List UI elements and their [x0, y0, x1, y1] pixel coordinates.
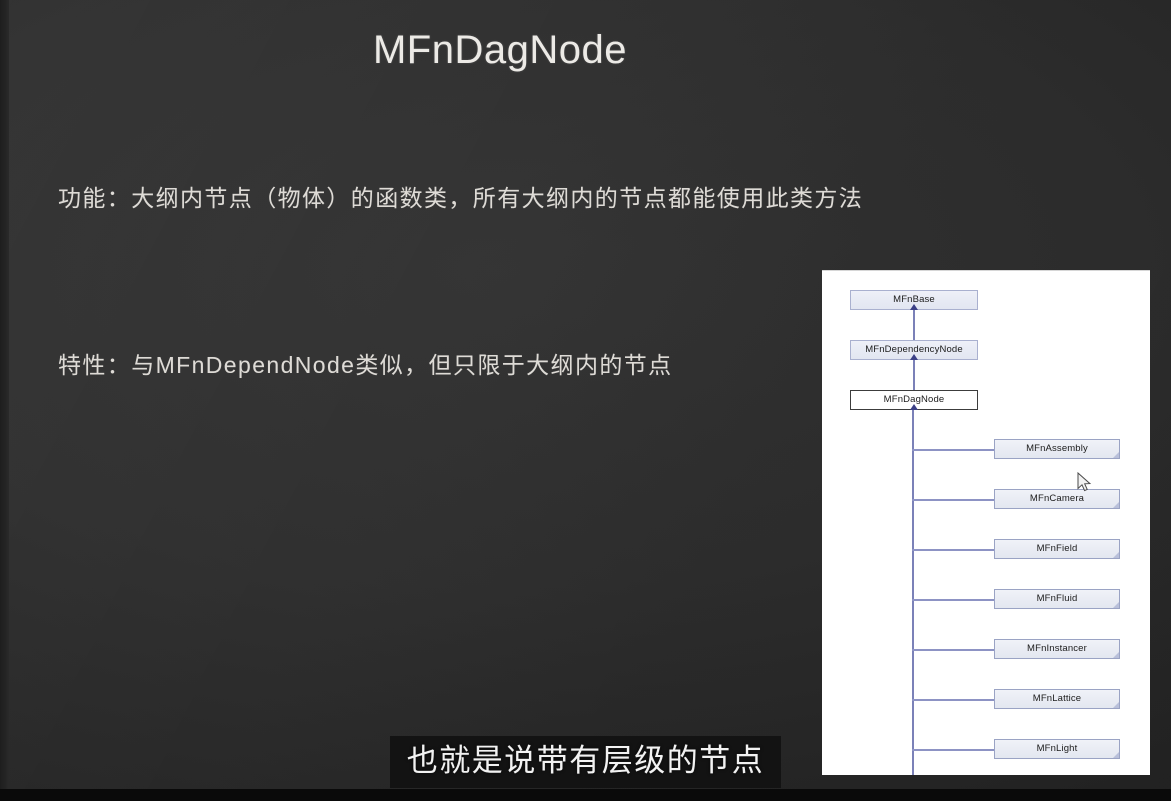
node-label: MFnLight	[1037, 743, 1078, 754]
connector-branch-lattice	[912, 699, 998, 701]
node-box-mfnlattice[interactable]: MFnLattice	[994, 689, 1120, 709]
node-label: MFnFluid	[1037, 593, 1078, 604]
body-line-function: 功能：大纲内节点（物体）的函数类，所有大纲内的节点都能使用此类方法	[58, 182, 863, 214]
connector-branch-light	[912, 749, 998, 751]
node-box-mfninstancer[interactable]: MFnInstancer	[994, 639, 1120, 659]
arrow-icon-base	[910, 304, 918, 310]
connector-trunk	[912, 410, 914, 775]
node-label: MFnLattice	[1033, 693, 1082, 704]
node-box-mfnfield[interactable]: MFnField	[994, 539, 1120, 559]
connector-dependency-to-dag	[913, 360, 915, 390]
node-box-mfnassembly[interactable]: MFnAssembly	[994, 439, 1120, 459]
resize-corner-icon	[1113, 602, 1119, 608]
resize-corner-icon	[1113, 652, 1119, 658]
connector-branch-instancer	[912, 649, 998, 651]
resize-corner-icon	[1113, 752, 1119, 758]
page-title: MFnDagNode	[0, 26, 1000, 74]
connector-base-to-dependency	[913, 310, 915, 340]
connector-branch-field	[912, 549, 998, 551]
resize-corner-icon	[1113, 452, 1119, 458]
resize-corner-icon	[1113, 552, 1119, 558]
screenshot-root: MFnDagNode 功能：大纲内节点（物体）的函数类，所有大纲内的节点都能使用…	[0, 0, 1171, 801]
node-label: MFnCamera	[1030, 493, 1084, 504]
body-line-feature: 特性：与MFnDependNode类似，但只限于大纲内的节点	[58, 349, 673, 381]
node-box-mfnfluid[interactable]: MFnFluid	[994, 589, 1120, 609]
connector-branch-camera	[912, 499, 998, 501]
node-label: MFnField	[1037, 543, 1078, 554]
connector-branch-fluid	[912, 599, 998, 601]
node-label: MFnInstancer	[1027, 643, 1087, 654]
arrow-icon-dependency	[910, 354, 918, 360]
node-box-mfncamera[interactable]: MFnCamera	[994, 489, 1120, 509]
class-hierarchy-diagram: MFnBase MFnDependencyNode MFnDagNode MFn…	[822, 270, 1150, 775]
resize-corner-icon	[1113, 502, 1119, 508]
resize-corner-icon	[1113, 702, 1119, 708]
left-edge-shadow	[0, 0, 9, 789]
bottom-letterbox-bar	[0, 789, 1171, 801]
node-box-mfnlight[interactable]: MFnLight	[994, 739, 1120, 759]
connector-branch-assembly	[912, 449, 998, 451]
node-label: MFnAssembly	[1026, 443, 1088, 454]
